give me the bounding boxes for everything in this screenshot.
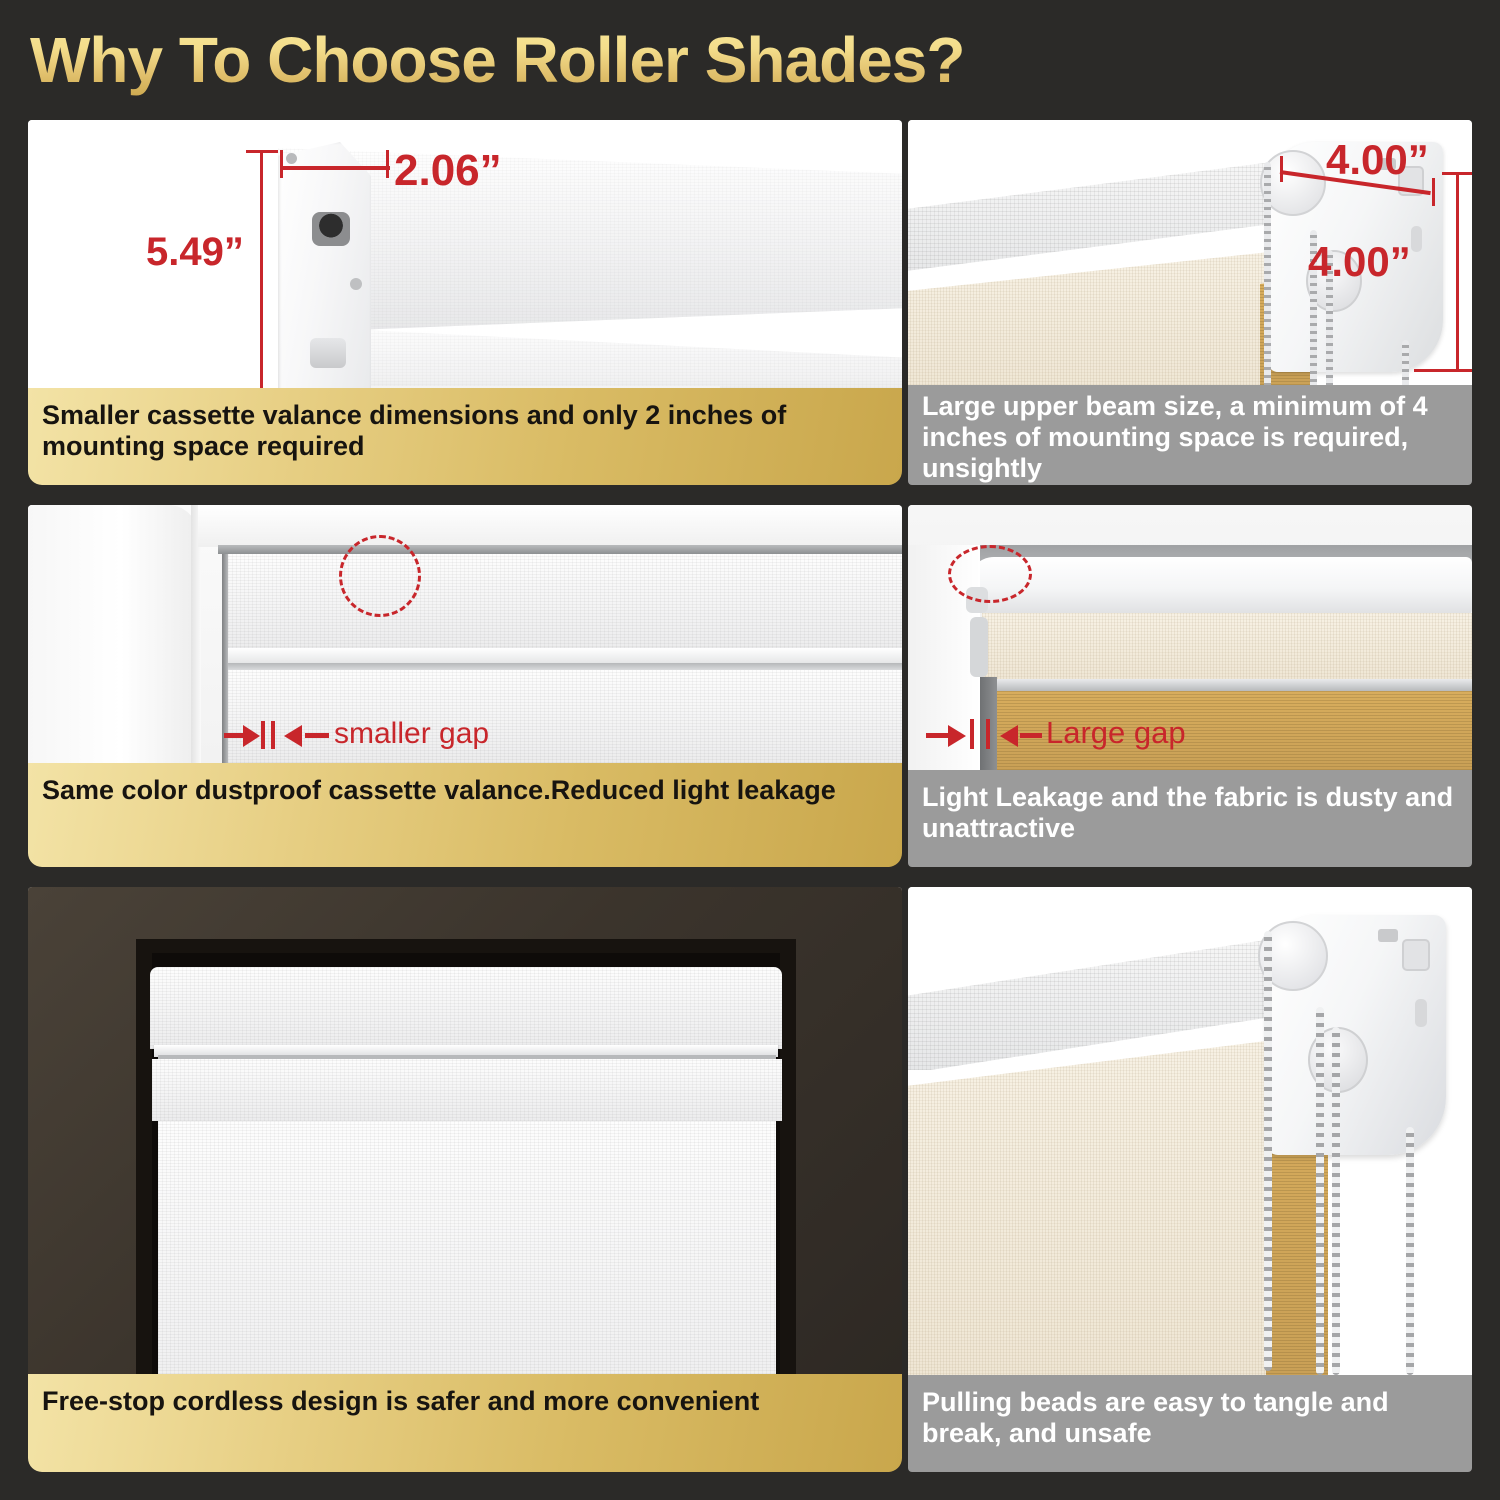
gap-arrow-left-head bbox=[948, 725, 966, 747]
panel-3-photo: smaller gap bbox=[28, 505, 902, 763]
dim-2-06-line bbox=[280, 166, 390, 170]
panel-5-photo bbox=[28, 887, 902, 1374]
open-roller-bracket-illustration: 4.00” 4.00” bbox=[908, 120, 1472, 385]
dim-width-label: 2.06” bbox=[394, 146, 502, 196]
panel-6-caption: Pulling beads are easy to tangle and bre… bbox=[908, 1375, 1472, 1472]
panel-1-caption: Smaller cassette valance dimensions and … bbox=[28, 388, 902, 485]
cassette-valance-illustration: 2.06” 5.49” bbox=[28, 120, 902, 388]
gap-tick-a bbox=[261, 721, 265, 749]
panel-bad-light-leakage: Large gap Light Leakage and the fabric i… bbox=[908, 505, 1472, 867]
smaller-gap-label: smaller gap bbox=[334, 717, 489, 751]
gap-arrow-right-shaft bbox=[1020, 733, 1042, 738]
panel-good-cordless-design: Free-stop cordless design is safer and m… bbox=[28, 887, 902, 1472]
gap-tick-b bbox=[986, 719, 990, 749]
dim-5-49-line bbox=[260, 150, 263, 388]
panel-2-caption: Large upper beam size, a minimum of 4 in… bbox=[908, 385, 1472, 485]
panel-4-caption: Light Leakage and the fabric is dusty an… bbox=[908, 770, 1472, 867]
dim-2-06-tick-left bbox=[280, 150, 283, 178]
gap-tick-a bbox=[970, 719, 974, 749]
highlight-circle-icon bbox=[948, 545, 1032, 603]
panel-good-cassette-dimensions: 2.06” 5.49” Smaller cassette valance dim… bbox=[28, 120, 902, 485]
dim-height-label: 4.00” bbox=[1308, 238, 1411, 286]
gap-arrow-right-head bbox=[1000, 725, 1018, 747]
dim-height-label: 5.49” bbox=[146, 230, 244, 275]
dim-side-4-tick-top bbox=[1442, 172, 1472, 175]
bead-chain-roller-illustration bbox=[908, 887, 1472, 1375]
gap-arrow-left-head bbox=[243, 725, 260, 747]
panel-good-dustproof-valance: smaller gap Same color dustproof cassett… bbox=[28, 505, 902, 867]
gap-arrow-left-shaft bbox=[926, 733, 950, 738]
panel-3-caption: Same color dustproof cassette valance.Re… bbox=[28, 763, 902, 867]
dim-5-49-tick-top bbox=[246, 150, 278, 153]
large-gap-illustration: Large gap bbox=[908, 505, 1472, 770]
gap-arrow-right-head bbox=[284, 725, 302, 747]
large-gap-label: Large gap bbox=[1046, 715, 1186, 751]
panel-6-photo bbox=[908, 887, 1472, 1375]
highlight-circle-icon bbox=[339, 535, 421, 617]
dim-side-4-line bbox=[1456, 172, 1459, 372]
panel-4-photo: Large gap bbox=[908, 505, 1472, 770]
dim-top-4-tick-right bbox=[1432, 178, 1435, 206]
panel-bad-large-beam: 4.00” 4.00” Large upper beam size, a min… bbox=[908, 120, 1472, 485]
dim-2-06-tick-right bbox=[386, 150, 389, 178]
panel-bad-pulling-beads: Pulling beads are easy to tangle and bre… bbox=[908, 887, 1472, 1472]
page-title: Why To Choose Roller Shades? bbox=[30, 22, 1130, 98]
panel-5-caption: Free-stop cordless design is safer and m… bbox=[28, 1374, 902, 1472]
window-frame-smaller-gap-illustration: smaller gap bbox=[28, 505, 902, 763]
dim-width-label: 4.00” bbox=[1326, 136, 1429, 184]
window-cordless-shade-scene bbox=[28, 887, 902, 1374]
dim-side-4-tick-bottom bbox=[1414, 369, 1472, 372]
gap-tick-b bbox=[271, 721, 275, 749]
gap-arrow-right-shaft bbox=[305, 733, 329, 738]
panel-2-photo: 4.00” 4.00” bbox=[908, 120, 1472, 385]
panel-1-photo: 2.06” 5.49” bbox=[28, 120, 902, 388]
dim-top-4-tick-left bbox=[1280, 156, 1283, 182]
